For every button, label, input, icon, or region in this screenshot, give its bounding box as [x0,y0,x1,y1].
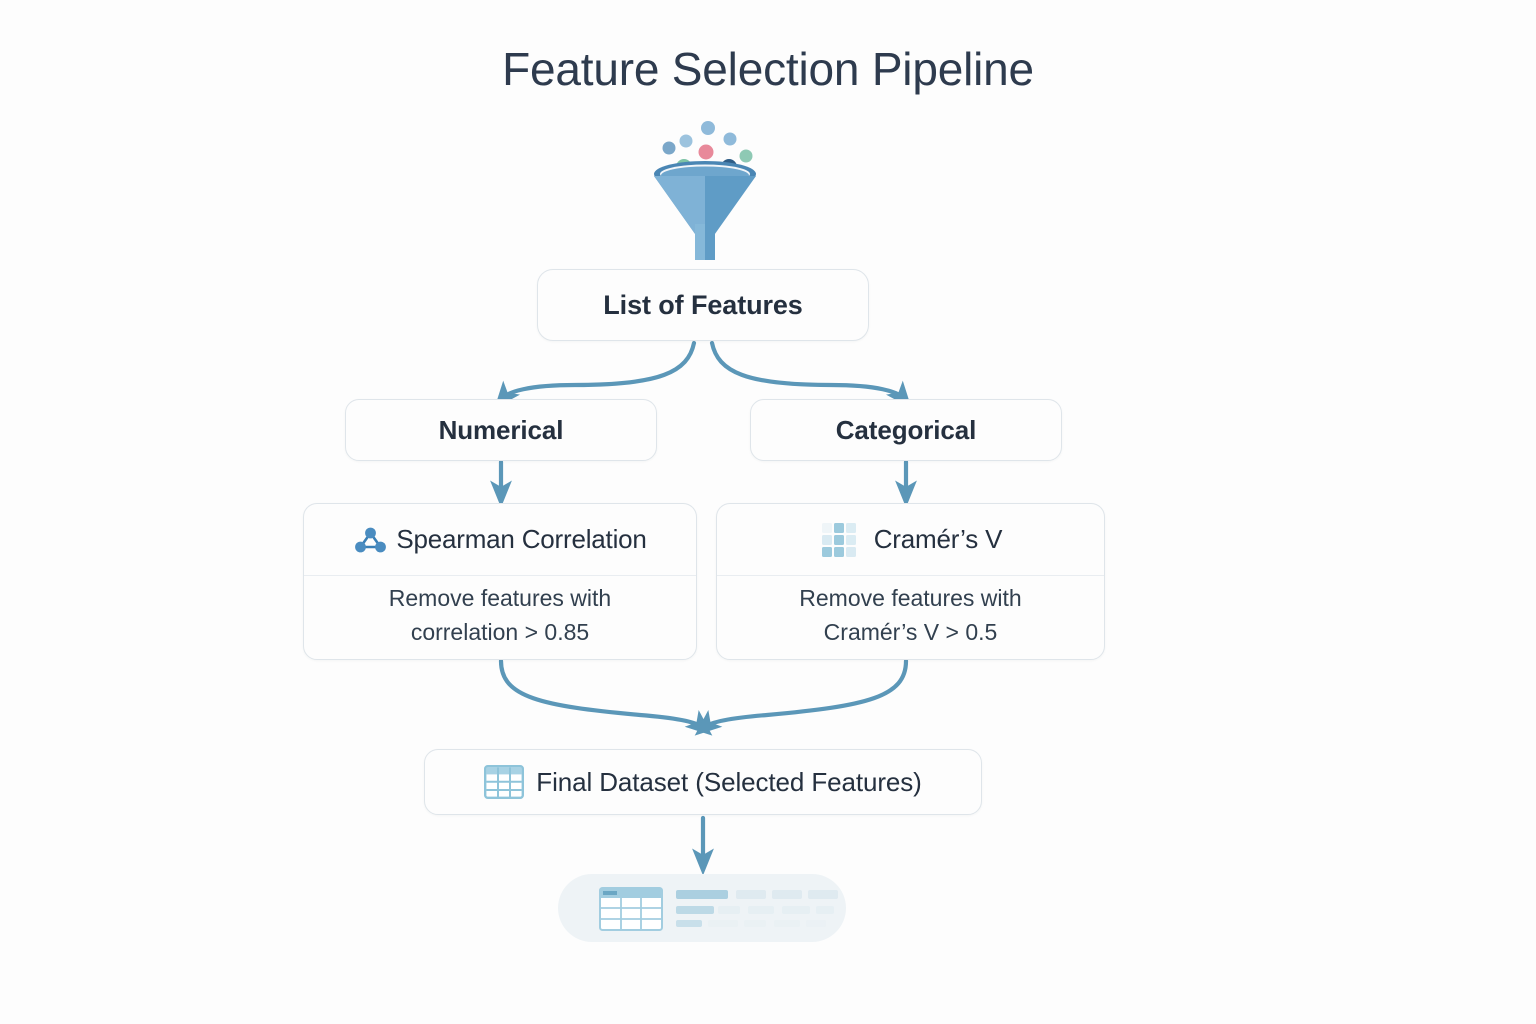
node-categorical[interactable]: Categorical [750,399,1062,461]
node-list-of-features[interactable]: List of Features [537,269,869,341]
table-icon [484,765,524,799]
node-categorical-label: Categorical [836,415,977,446]
card-spearman-header: Spearman Correlation [304,504,696,576]
card-spearman-body-line-2: correlation > 0.85 [411,615,589,649]
dataset-table-icon [558,874,846,942]
card-spearman-title: Spearman Correlation [396,524,646,555]
page-title: Feature Selection Pipeline [0,42,1536,96]
diagram-canvas: Feature Selection Pipeline [0,0,1536,1024]
card-cramers-title: Cramér’s V [874,524,1003,555]
connector-cramers-to-final [705,661,906,727]
node-final-dataset[interactable]: Final Dataset (Selected Features) [424,749,982,815]
feature-dot-2 [701,121,715,135]
funnel-icon [640,112,770,262]
card-cramers-header: Cramér’s V [717,504,1104,576]
feature-dot-4 [724,133,737,146]
card-spearman-correlation[interactable]: Spearman Correlation Remove features wit… [303,503,697,660]
feature-dot-5 [699,145,714,160]
network-graph-icon [353,524,389,556]
connector-features-to-numerical [503,343,694,398]
connector-spearman-to-final [501,661,702,727]
grid-matrix-icon [819,520,859,560]
selected-features-preview [558,874,846,942]
node-list-of-features-label: List of Features [603,290,802,321]
funnel-illustration [640,112,770,262]
feature-dot-6 [740,150,753,163]
node-final-dataset-label: Final Dataset (Selected Features) [536,767,921,798]
connector-features-to-categorical [712,343,903,398]
node-numerical-label: Numerical [439,415,564,446]
node-numerical[interactable]: Numerical [345,399,657,461]
feature-dot-3 [663,142,676,155]
card-spearman-body: Remove features with correlation > 0.85 [304,576,696,659]
card-spearman-body-line-1: Remove features with [389,581,611,615]
feature-dot-1 [680,135,693,148]
card-cramers-v[interactable]: Cramér’s V Remove features with Cramér’s… [716,503,1105,660]
card-cramers-body-line-2: Cramér’s V > 0.5 [824,615,998,649]
card-cramers-body-line-1: Remove features with [799,581,1021,615]
card-cramers-body: Remove features with Cramér’s V > 0.5 [717,576,1104,659]
